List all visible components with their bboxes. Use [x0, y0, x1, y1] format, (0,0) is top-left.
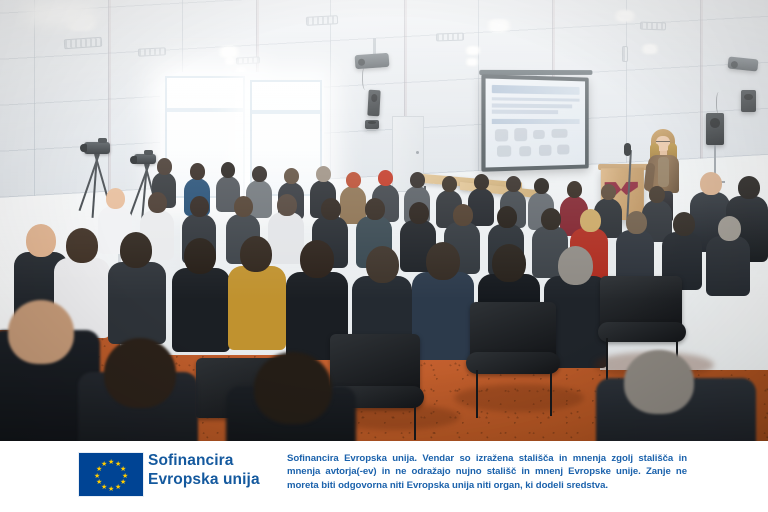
ceiling-light	[638, 44, 662, 54]
chair-leg	[606, 338, 608, 380]
event-photo	[0, 0, 768, 441]
audience-head	[700, 172, 722, 195]
audience-head	[580, 209, 601, 232]
ceiling-mount-bracket	[622, 46, 628, 62]
tripod-leg	[129, 164, 150, 217]
page-root: ★ ★ ★ ★ ★ ★ ★ ★ ★ ★ ★ ★ Sofinancira Evro…	[0, 0, 768, 512]
slide-logo	[558, 145, 569, 154]
foreground-head	[624, 350, 694, 414]
foreground-head	[8, 300, 74, 364]
audience-member	[172, 268, 230, 352]
audience-head	[497, 206, 517, 228]
eu-funding-footer: ★ ★ ★ ★ ★ ★ ★ ★ ★ ★ ★ ★ Sofinancira Evro…	[0, 441, 768, 512]
audience-head	[190, 196, 209, 217]
ceiling-vent	[306, 15, 338, 26]
eu-star: ★	[94, 474, 100, 480]
eu-star: ★	[96, 480, 102, 486]
slide-logo	[533, 130, 545, 140]
eu-star: ★	[108, 460, 114, 466]
ceiling-light	[0, 0, 120, 26]
audience-head	[365, 198, 385, 220]
projection-screen-surface	[486, 78, 585, 167]
audience-head	[738, 176, 760, 199]
projector-lens	[731, 61, 739, 69]
slide-text-line	[492, 97, 580, 102]
audience-head	[534, 178, 549, 194]
eu-star: ★	[115, 485, 121, 491]
audience-head	[601, 184, 616, 200]
eu-funding-logo-text: Sofinancira Evropska unija	[148, 451, 260, 489]
audience-head	[626, 211, 647, 234]
foreground-head	[254, 352, 332, 424]
wall-speaker	[367, 90, 380, 117]
audience-head	[234, 196, 253, 217]
audience-head	[409, 202, 429, 224]
slide-section-bar	[492, 119, 580, 124]
microphone	[624, 143, 631, 156]
audience-head	[148, 192, 167, 213]
audience-head	[426, 242, 460, 280]
slide-logo	[497, 146, 512, 157]
empty-chair	[600, 276, 682, 328]
audience-head	[300, 240, 334, 278]
chair-shadow	[454, 384, 584, 412]
ceiling-vent	[436, 33, 464, 42]
audience-head	[558, 246, 593, 285]
audience-head	[221, 162, 235, 178]
slide-logo	[519, 146, 531, 156]
video-camera	[134, 154, 156, 164]
audience-head	[718, 216, 741, 241]
window-mullion	[167, 108, 243, 112]
eu-logo-line-1: Sofinancira	[148, 451, 260, 470]
audience-head	[442, 176, 457, 192]
ceiling-projector	[355, 53, 390, 69]
audience-member	[228, 266, 286, 350]
ceiling-vent	[236, 56, 260, 64]
audience-member	[108, 262, 166, 344]
audience-head	[346, 172, 361, 188]
eu-disclaimer-text: Sofinancira Evropska unija. Vendar so iz…	[287, 452, 687, 492]
slide-text-line	[492, 110, 559, 114]
window-mullion	[252, 110, 320, 114]
audience-head	[66, 228, 98, 263]
wall-cable	[716, 92, 723, 114]
projector-lens	[358, 58, 365, 65]
audience-head	[284, 168, 299, 184]
audience-head	[492, 244, 526, 282]
chair-leg	[414, 404, 416, 440]
audience-head	[106, 188, 125, 209]
ceiling-light	[462, 46, 484, 55]
video-camera	[84, 142, 110, 154]
audience-head	[366, 246, 399, 283]
eu-logo-line-2: Evropska unija	[148, 470, 260, 489]
empty-chair	[466, 352, 560, 374]
empty-chair	[470, 302, 556, 358]
slide-logo	[514, 128, 527, 141]
slide-logo	[495, 129, 509, 141]
ceiling-vent	[138, 47, 166, 56]
audience-member	[268, 212, 304, 264]
audience-member	[412, 272, 474, 360]
slide-text-line	[492, 103, 572, 107]
audience-head	[410, 172, 425, 188]
ceiling-vent	[640, 22, 666, 31]
audience-head	[277, 194, 297, 216]
audience-head	[26, 224, 56, 257]
audience-head	[157, 158, 172, 175]
projection-screen	[481, 74, 588, 172]
audience-member	[706, 236, 750, 296]
audience-head	[541, 208, 561, 230]
audience-head	[252, 166, 267, 182]
ceiling-light	[610, 10, 640, 22]
audience-head	[567, 181, 582, 198]
eu-star-circle: ★ ★ ★ ★ ★ ★ ★ ★ ★ ★ ★ ★	[79, 453, 143, 496]
audience-head	[474, 174, 489, 190]
audience-head	[378, 170, 393, 186]
door-knob	[416, 151, 419, 154]
ceiling-light	[482, 19, 516, 32]
empty-chair	[598, 322, 686, 342]
slide-logo	[552, 129, 567, 138]
wall-speaker	[741, 90, 756, 112]
chair-leg	[550, 370, 552, 416]
slide-logo	[539, 144, 552, 155]
audience-head	[184, 238, 216, 274]
audience-head	[453, 204, 473, 226]
slide-title-bar	[492, 85, 580, 95]
ceiling-light	[463, 58, 481, 66]
wall-speaker	[365, 120, 379, 129]
audience-head	[506, 176, 521, 192]
foreground-head	[104, 338, 176, 408]
empty-chair	[330, 334, 420, 392]
eu-star: ★	[101, 462, 107, 468]
tripod-leg	[79, 154, 100, 211]
hanging-cable	[362, 66, 371, 90]
european-union-flag: ★ ★ ★ ★ ★ ★ ★ ★ ★ ★ ★ ★	[78, 452, 144, 497]
projector-mount	[373, 38, 376, 55]
audience-head	[649, 186, 665, 203]
audience-head	[321, 198, 341, 220]
audience-head	[673, 212, 695, 236]
presenter-top	[658, 157, 669, 187]
chair-leg	[476, 370, 478, 418]
audience-head	[240, 236, 272, 272]
audience-head	[120, 232, 152, 268]
audience-head	[316, 166, 331, 182]
eu-star: ★	[108, 487, 114, 493]
audience-head	[190, 163, 205, 180]
floor-speaker	[706, 113, 724, 145]
